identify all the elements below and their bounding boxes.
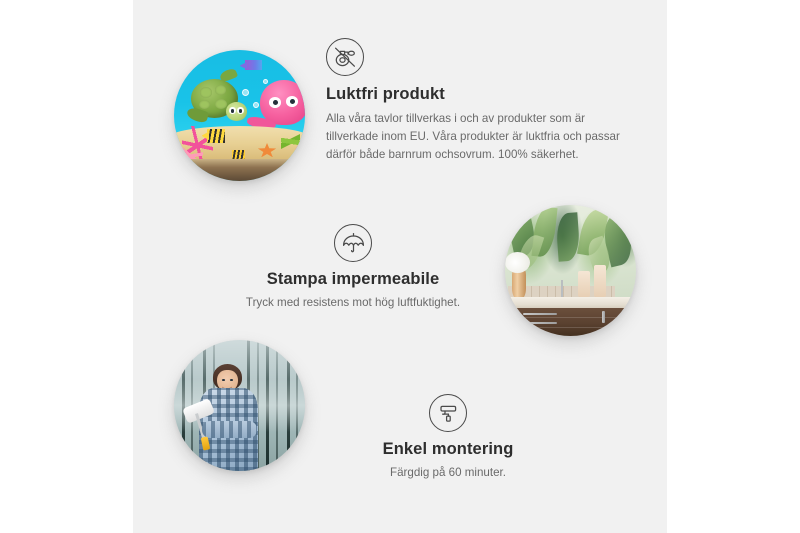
turtle-shell-spot <box>200 87 212 97</box>
product-feature-graphic: Luktfri produkt Alla våra tavlor tillver… <box>0 0 800 533</box>
cabinet-handle <box>602 311 605 323</box>
candle <box>594 265 606 296</box>
drawer-handle <box>523 322 557 324</box>
forest-painter-scene <box>174 340 305 471</box>
seaweed <box>281 123 299 160</box>
woman-eye <box>222 379 225 381</box>
octopus-pupil <box>273 100 278 105</box>
feature-waterproof: Stampa impermeabile Tryck med resistens … <box>203 224 503 312</box>
drawer-seam <box>505 327 636 328</box>
turtle-shell-spot <box>199 100 210 109</box>
woman-eye <box>230 379 233 381</box>
faucet <box>561 280 563 297</box>
candle <box>578 271 590 297</box>
leaf-icon <box>556 212 582 262</box>
medallion-forest-painter <box>174 340 305 471</box>
feature-easy-assembly: Enkel montering Färgdig på 60 minuter. <box>323 394 573 482</box>
content-panel: Luktfri produkt Alla våra tavlor tillver… <box>133 0 667 533</box>
umbrella-icon <box>334 224 372 262</box>
wood-cabinet <box>505 308 636 336</box>
fish-striped <box>207 129 225 143</box>
feature-title: Enkel montering <box>323 440 573 460</box>
feature-title: Stampa impermeabile <box>203 270 503 290</box>
turtle-head <box>226 102 247 120</box>
feature-body: Färgdig på 60 minuter. <box>323 464 573 482</box>
feature-title: Luktfri produkt <box>326 85 626 105</box>
drawer-handle <box>523 313 557 315</box>
drawer-seam <box>505 317 636 318</box>
sea-floor-shadow <box>174 159 305 181</box>
feature-body: Alla våra tavlor tillverkas i och av pro… <box>326 110 626 164</box>
bathroom-scene <box>505 205 636 336</box>
feature-odourless: Luktfri produkt Alla våra tavlor tillver… <box>326 38 626 164</box>
octopus-pupil <box>290 99 295 104</box>
white-flowers <box>505 252 530 273</box>
turtle-shell-spot <box>215 85 226 94</box>
underwater-scene <box>174 50 305 181</box>
paint-roller-icon <box>429 394 467 432</box>
medallion-underwater <box>174 50 305 181</box>
turtle-shell-spot <box>215 99 227 109</box>
crossed-arms <box>202 421 257 438</box>
no-spray-bottle-icon <box>326 38 364 76</box>
octopus-head <box>260 80 305 125</box>
feature-body: Tryck med resistens mot hög luftfuktighe… <box>203 294 503 312</box>
bubble-icon <box>263 79 268 84</box>
medallion-bathroom <box>505 205 636 336</box>
